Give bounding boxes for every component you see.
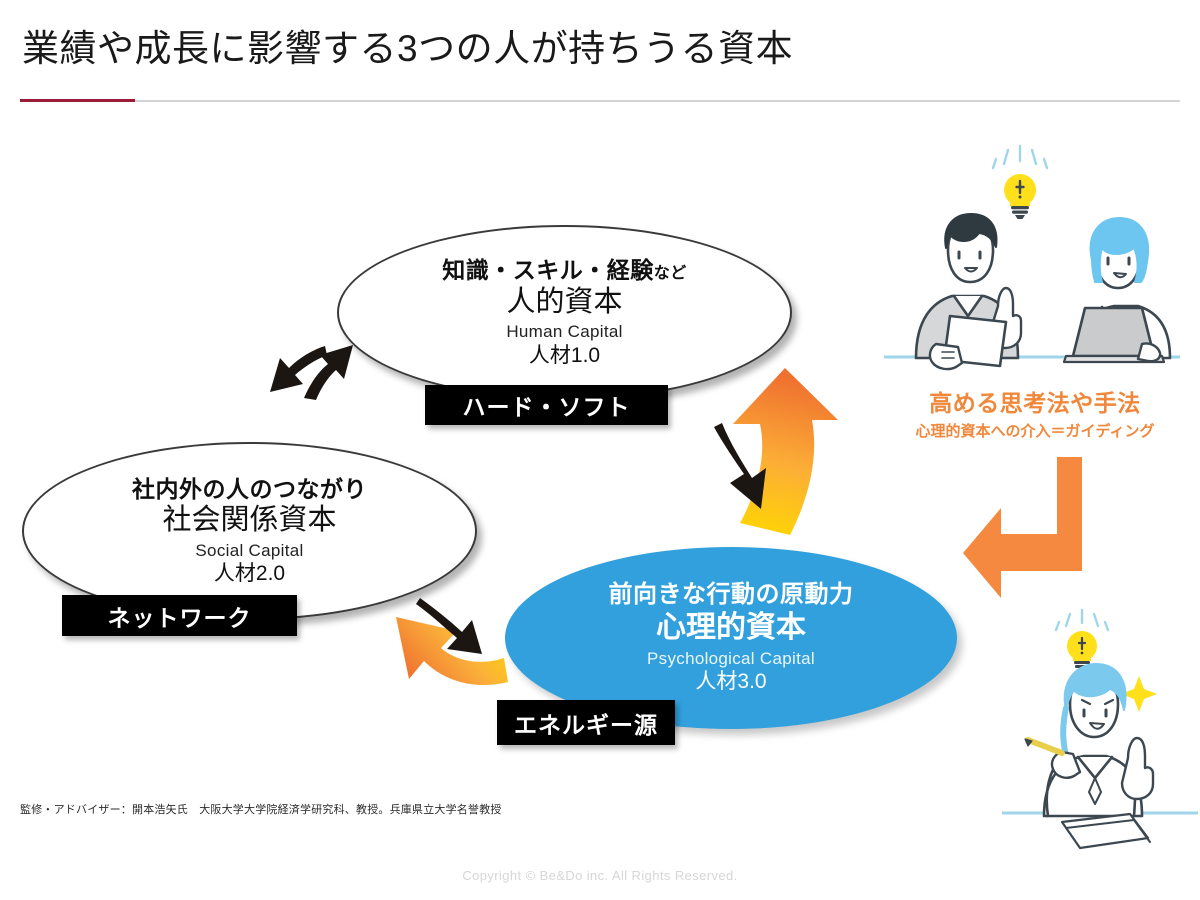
guiding-subheading: 心理的資本への介入＝ガイディング (875, 422, 1195, 442)
capital-name-en-human: Human Capital (506, 321, 622, 342)
person-woman (1064, 218, 1170, 362)
guiding-heading: 高める思考法や手法 (875, 390, 1195, 418)
capital-name-ja-social: 社会関係資本 (162, 503, 336, 538)
capital-tag-human[interactable]: ハード・ソフト (425, 385, 668, 425)
title-rule (20, 100, 1180, 102)
capital-headline-psych: 前向きな行動の原動力 (609, 581, 854, 609)
arrow-guiding-loop-icon (963, 457, 1082, 598)
capital-name-en-social: Social Capital (195, 540, 303, 561)
capital-version-social: 人材2.0 (214, 561, 285, 586)
capital-headline-human: 知識・スキル・経験など (442, 257, 687, 283)
idea-rays-icon (1056, 610, 1108, 630)
sparkle-icon (1121, 676, 1157, 712)
capital-name-ja-psych: 心理的資本 (656, 610, 806, 646)
capital-name-ja-human: 人的資本 (506, 285, 622, 320)
advisor-credit: 監修・アドバイザー：開本浩矢氏 大阪大学大学院経済学研究科、教授。兵庫県立大学名… (20, 801, 502, 817)
page-title: 業績や成長に影響する3つの人が持ちうる資本 (22, 18, 793, 72)
idea-rays-icon (993, 146, 1047, 168)
capital-node-human[interactable]: 知識・スキル・経験など 人的資本 Human Capital 人材1.0 (337, 225, 792, 400)
slide-canvas: 業績や成長に影響する3つの人が持ちうる資本 (0, 0, 1200, 900)
guiding-heading-block: 高める思考法や手法 心理的資本への介入＝ガイディング (875, 390, 1195, 441)
person-woman-idea (1025, 664, 1153, 848)
person-man (916, 214, 1021, 369)
capital-version-psych: 人材3.0 (695, 669, 766, 694)
arrow-psych-to-human-icon (733, 368, 838, 535)
arrow-social-human-up-icon (304, 345, 353, 400)
capital-headline-social: 社内外の人のつながり (132, 476, 367, 502)
capital-node-social[interactable]: 社内外の人のつながり 社会関係資本 Social Capital 人材2.0 (22, 442, 477, 620)
lightbulb-icon (1004, 174, 1036, 219)
lightbulb-icon (1067, 631, 1097, 673)
capital-tag-social[interactable]: ネットワーク (62, 595, 297, 636)
capital-name-en-psych: Psychological Capital (647, 648, 815, 669)
capital-version-human: 人材1.0 (529, 343, 600, 368)
copyright-notice: Copyright © Be&Do inc. All Rights Reserv… (0, 868, 1200, 883)
arrow-human-to-psych-icon (714, 423, 766, 509)
title-accent-rule (20, 99, 135, 102)
arrow-psych-to-social-icon (396, 617, 508, 685)
arrow-human-social-down-icon (270, 346, 327, 392)
arrow-social-to-psych-icon (416, 598, 482, 654)
capital-tag-psychological[interactable]: エネルギー源 (497, 700, 675, 745)
